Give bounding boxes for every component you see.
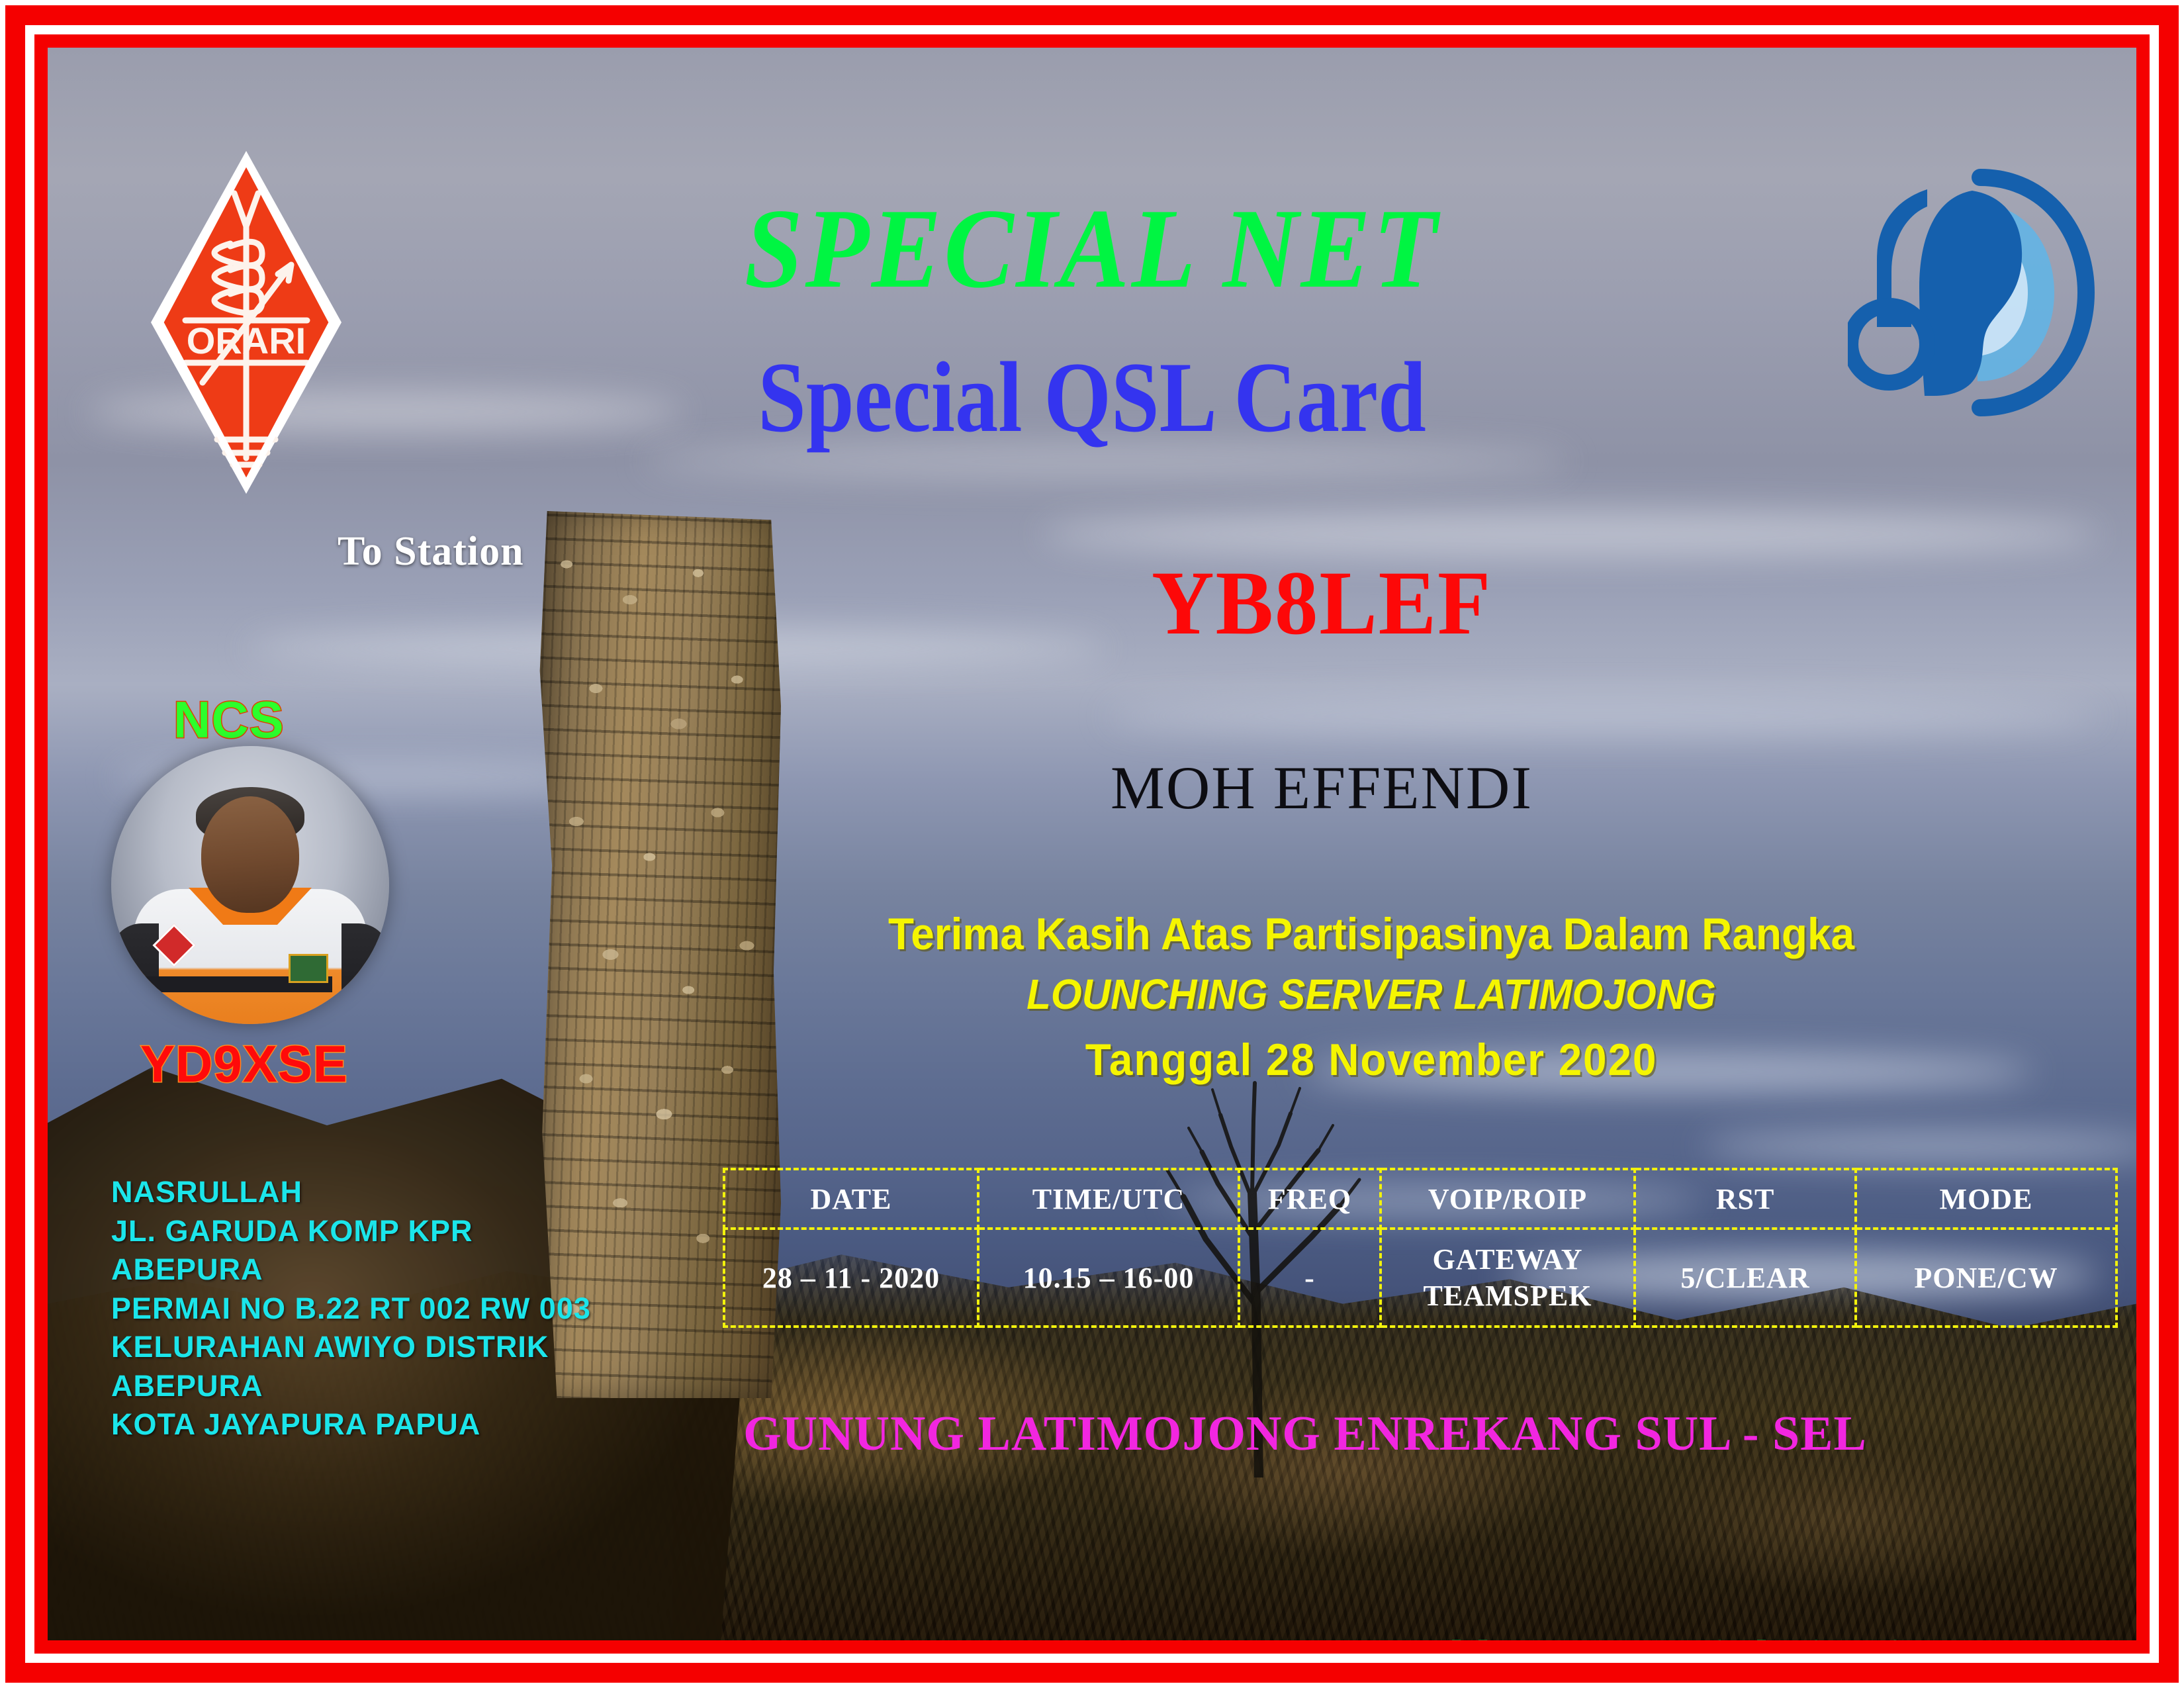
location-caption: GUNUNG LATIMOJONG ENREKANG SUL - SEL (643, 1406, 1967, 1462)
operator-sleeve-right (341, 923, 389, 1024)
address-line: KELURAHAN AWIYO DISTRIK (111, 1328, 707, 1367)
ncs-label: NCS (173, 690, 285, 750)
page-subtitle-qsl-card: Special QSL Card (194, 347, 1990, 447)
column-header-voip: VOIP/ROIP (1381, 1169, 1635, 1229)
table-row: 28 – 11 - 2020 10.15 – 16-00 - GATEWAY T… (724, 1229, 2116, 1327)
footer-motto: "AMATIR RADIO ADALAH PROGRESIVE" (126, 1631, 1024, 1640)
address-line: NASRULLAH (111, 1173, 707, 1212)
footer-web-address: Address : amatir.latimojong.com (1404, 1631, 2073, 1640)
address-line: JL. GARUDA KOMP KPR (111, 1212, 707, 1251)
cell-date: 28 – 11 - 2020 (724, 1229, 978, 1327)
cell-time: 10.15 – 16-00 (978, 1229, 1239, 1327)
ncs-address-block: NASRULLAH JL. GARUDA KOMP KPR ABEPURA PE… (111, 1173, 707, 1444)
station-operator-name: MOH EFFENDI (875, 753, 1768, 823)
qso-log-table: DATE TIME/UTC FREQ VOIP/ROIP RST MODE 28… (723, 1168, 2118, 1328)
address-line: ABEPURA (111, 1250, 707, 1289)
thanks-line-3: Tanggal 28 November 2020 (780, 1034, 1962, 1086)
cell-freq: - (1239, 1229, 1381, 1327)
operator-id-badge (289, 954, 328, 983)
address-line: ABEPURA (111, 1367, 707, 1406)
cell-mode: PONE/CW (1856, 1229, 2116, 1327)
ncs-callsign: YD9XSE (140, 1034, 348, 1094)
ncs-operator-photo (111, 746, 389, 1024)
column-header-time: TIME/UTC (978, 1169, 1239, 1229)
cell-voip: GATEWAY TEAMSPEK (1381, 1229, 1635, 1327)
cell-rst: 5/CLEAR (1635, 1229, 1856, 1327)
card-photo-background: ORARI SPECIAL NET Special QSL Card To St… (48, 48, 2136, 1640)
table-header-row: DATE TIME/UTC FREQ VOIP/ROIP RST MODE (724, 1169, 2116, 1229)
qsl-card-frame: ORARI SPECIAL NET Special QSL Card To St… (0, 0, 2184, 1688)
station-callsign: YB8LEF (897, 557, 1747, 649)
column-header-mode: MODE (1856, 1169, 2116, 1229)
page-title-special-net: SPECIAL NET (131, 192, 2053, 306)
address-line: KOTA JAYAPURA PAPUA (111, 1405, 707, 1444)
thanks-line-1: Terima Kasih Atas Partisipasinya Dalam R… (780, 908, 1962, 960)
column-header-freq: FREQ (1239, 1169, 1381, 1229)
column-header-rst: RST (1635, 1169, 1856, 1229)
operator-face (201, 796, 299, 913)
thanks-line-2: LOUNCHING SERVER LATIMOJONG (780, 970, 1962, 1019)
operator-sleeve-left (111, 923, 159, 1024)
column-header-date: DATE (724, 1169, 978, 1229)
address-line: PERMAI NO B.22 RT 002 RW 003 (111, 1289, 707, 1329)
to-station-label: To Station (338, 528, 524, 575)
